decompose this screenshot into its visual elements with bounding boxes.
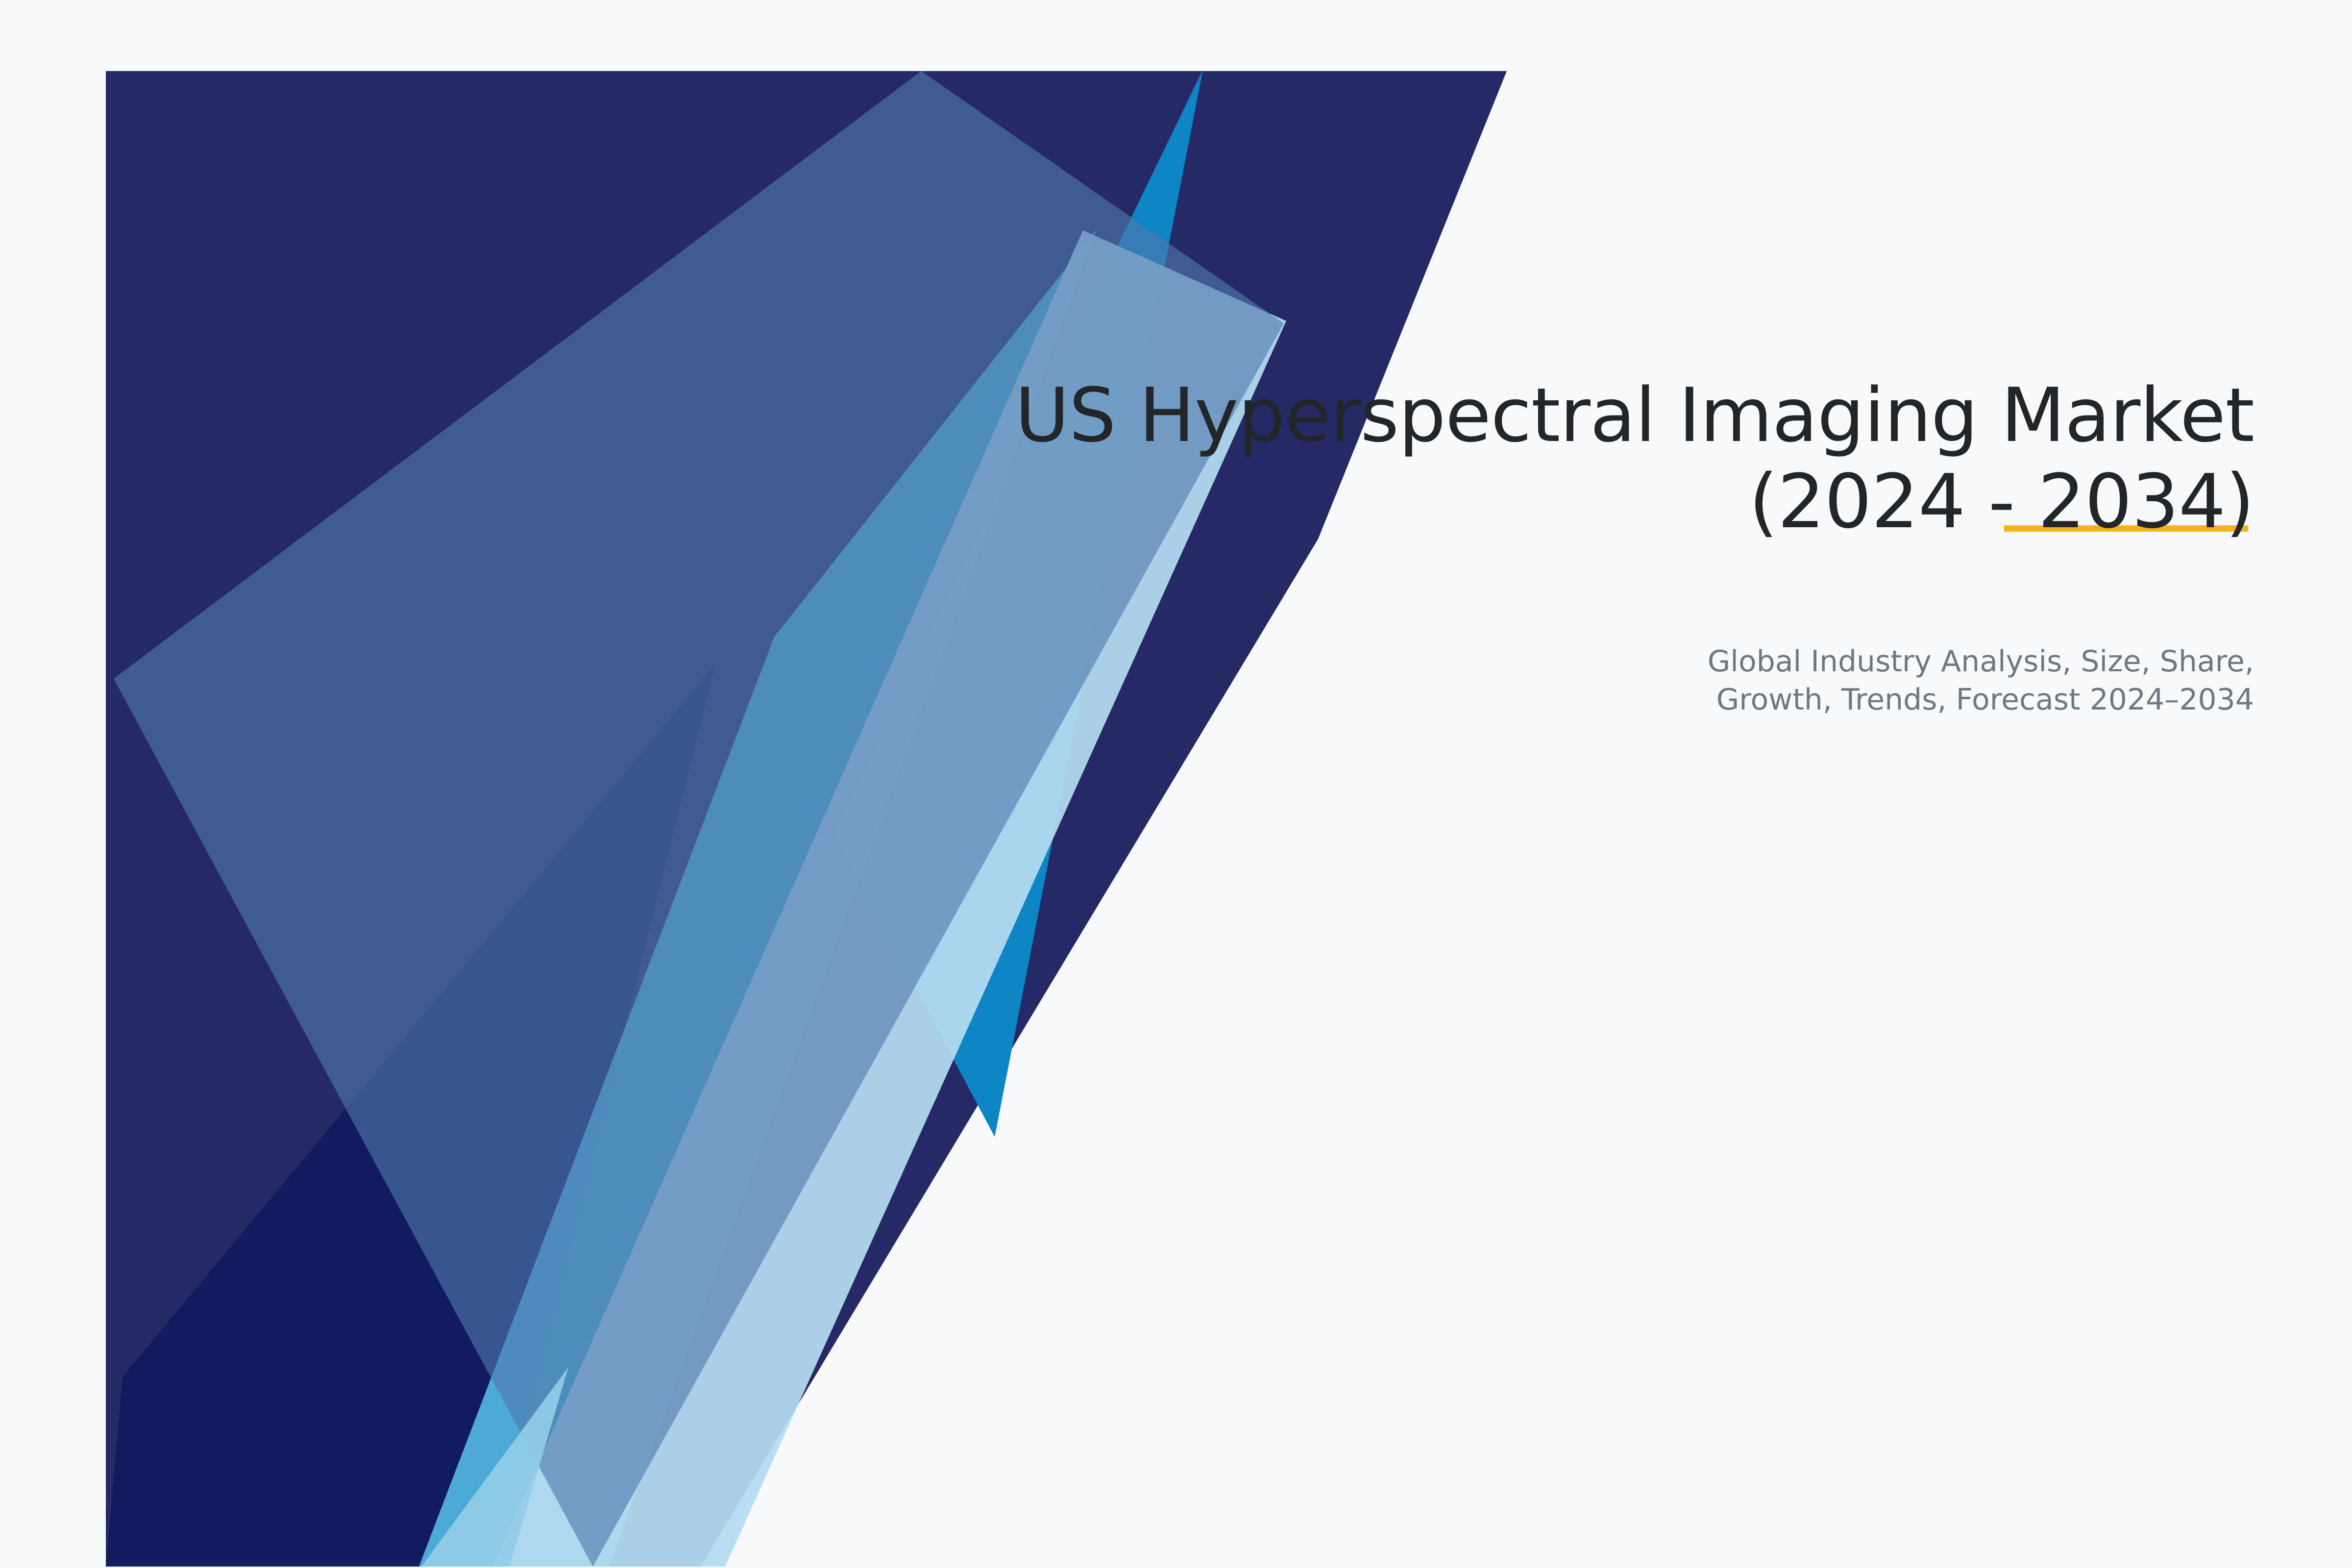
shape-steel-blue-overlay — [114, 71, 1284, 1567]
shape-navy-field — [106, 71, 1507, 1567]
page-title-line-2: (2024 - 2034) — [1749, 458, 2254, 545]
page-subtitle-line-2: Growth, Trends, Forecast 2024–2034 — [1716, 683, 2254, 717]
page-subtitle: Global Industry Analysis, Size, Share, G… — [784, 642, 2254, 719]
page-subtitle-line-1: Global Industry Analysis, Size, Share, — [1708, 644, 2254, 679]
shape-navy-dark-wedge — [106, 664, 715, 1567]
page-title: US Hyperspectral Imaging Market (2024 - … — [784, 372, 2254, 545]
page-title-line-1: US Hyperspectral Imaging Market — [1015, 372, 2254, 459]
cover-text-block: US Hyperspectral Imaging Market (2024 - … — [784, 372, 2254, 719]
abstract-geometric-artwork — [0, 0, 2352, 1568]
shape-light-sky-wedge — [421, 1367, 568, 1567]
report-cover-page: US Hyperspectral Imaging Market (2024 - … — [0, 0, 2352, 1568]
